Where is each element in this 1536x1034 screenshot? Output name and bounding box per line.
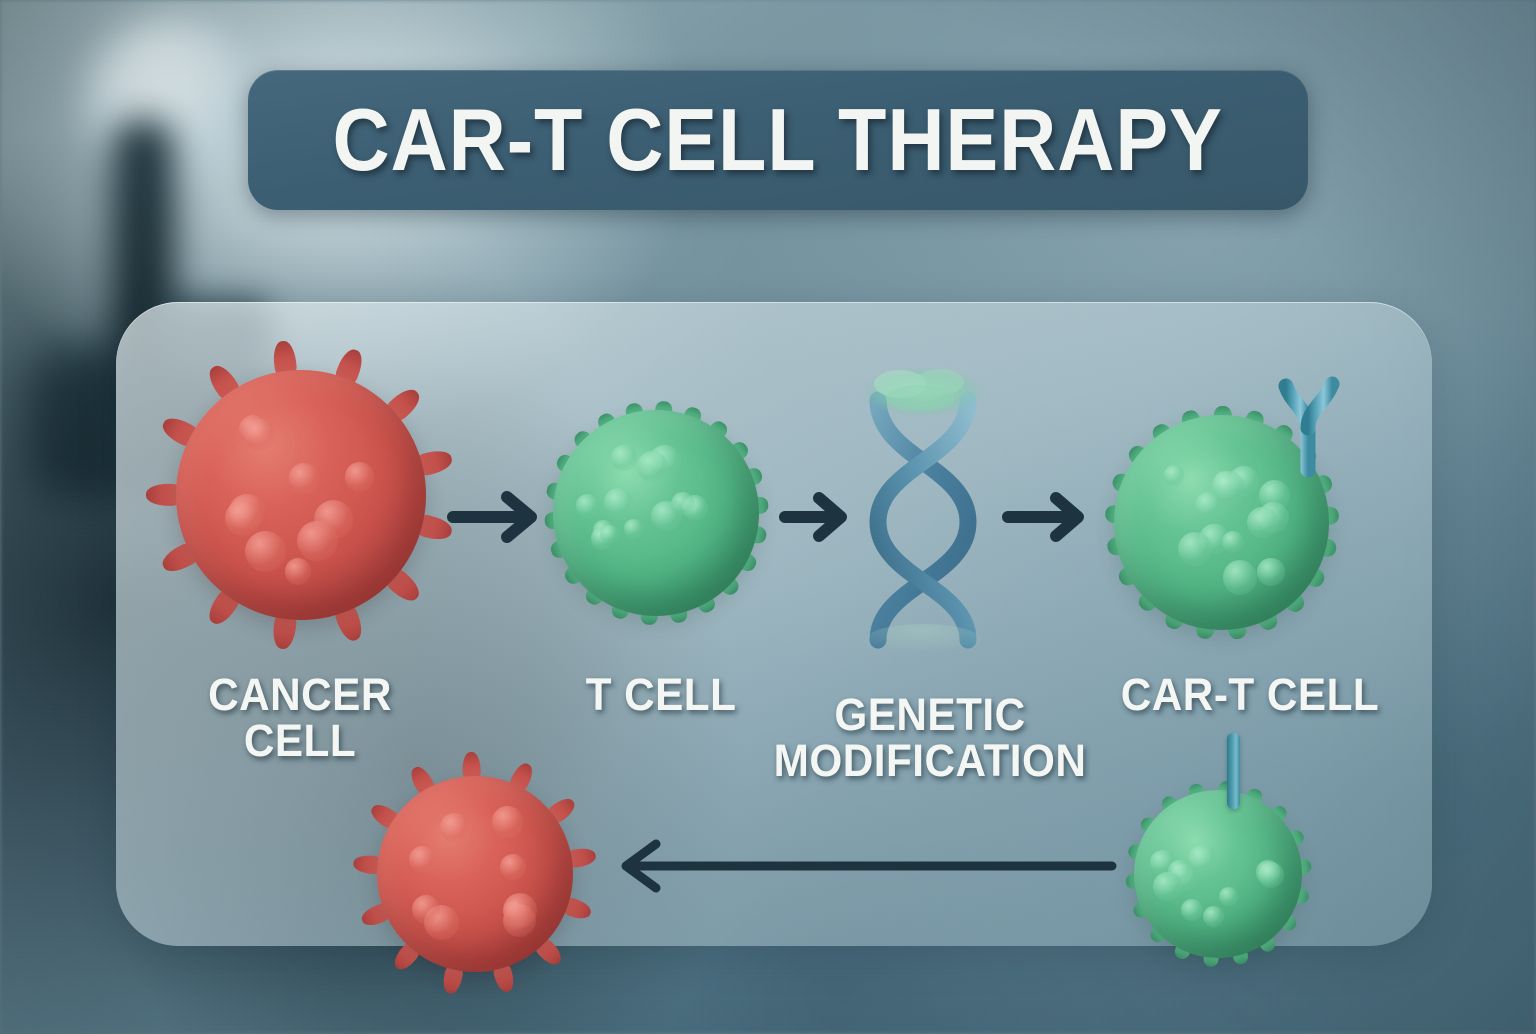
cell-surface-bump [1257,558,1284,585]
cell-surface-bump [245,531,286,572]
cancer-cell-illustration [176,370,426,620]
arrow-right-icon [777,488,859,546]
car-receptor-stalk-icon [1227,733,1240,809]
cell-surface-bump [1222,531,1244,553]
cell-surface-bump [1219,887,1238,906]
cell-surface-bump [289,463,319,493]
cell-surface-bump [412,895,440,923]
dna-double-helix-icon [848,362,998,654]
cell-surface-bump [244,419,275,450]
cell-surface-bump [1247,507,1277,537]
cell-surface-bump [671,492,695,516]
cancer-cell-targeted-illustration [377,776,573,972]
cell-membrane [377,776,573,972]
car-t-therapy-infographic: CAR-T CELL THERAPY [0,0,1536,1034]
arrow-right-icon [1000,488,1098,546]
cell-surface-bump [1258,862,1284,888]
cell-surface-bump [285,558,311,584]
label-genetic-modification: GENETIC MODIFICATION [751,692,1108,784]
cell-surface-bump [1153,872,1181,900]
label-cancer-cell: CANCER CELL [159,672,441,764]
cell-surface-bump [1223,560,1258,595]
cell-surface-bump [500,854,526,880]
cell-surface-bump [1195,492,1221,518]
cell-surface-bump [576,494,600,518]
arrow-svg [777,488,859,546]
cell-surface-bump [225,500,261,536]
cell-surface-bump [297,521,337,561]
receptor-svg [1262,370,1358,480]
arrow-svg [604,838,1124,894]
cell-surface-bump [1178,532,1212,566]
cell-surface-bump [1188,845,1216,873]
cell-surface-bump [624,519,643,538]
dna-svg [848,362,998,654]
cell-surface-bump [492,806,523,837]
cell-surface-bump [409,846,436,873]
car-receptor-y-icon [1262,370,1358,480]
page-title: CAR-T CELL THERAPY [333,96,1223,184]
arrow-left-icon [604,838,1124,894]
car-t-cell-attacking-illustration [1134,790,1302,958]
cell-surface-bump [600,525,619,544]
label-car-t-cell: CAR-T CELL [1090,672,1410,718]
arrow-right-icon [443,488,553,546]
cell-surface-bump [1164,465,1184,485]
cell-surface-bump [1203,906,1224,927]
arrow-svg [443,488,553,546]
title-banner: CAR-T CELL THERAPY [248,70,1308,210]
arrow-svg [1000,488,1098,546]
cell-surface-bump [440,813,468,841]
t-cell-illustration [553,410,759,616]
